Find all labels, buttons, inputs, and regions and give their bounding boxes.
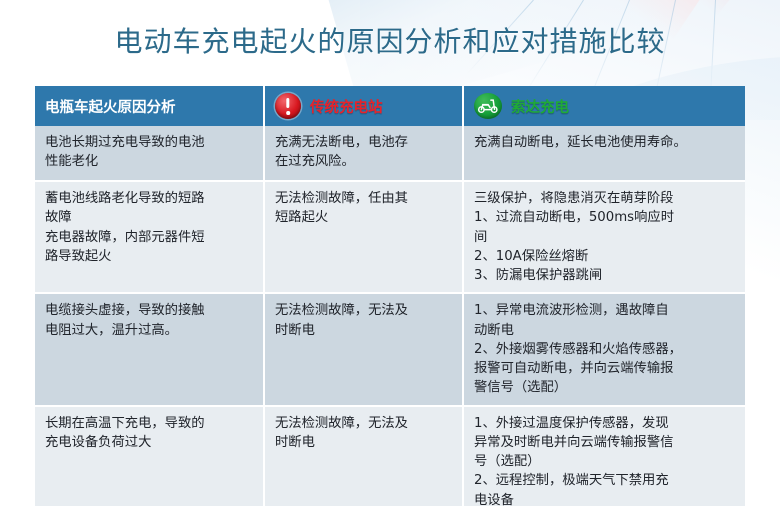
cell-cause: 长期在高温下充电，导致的 充电设备负荷过大 xyxy=(35,406,264,506)
cell-text-line: 在过充风险。 xyxy=(275,152,453,171)
cell-text-line: 动断电 xyxy=(474,321,736,340)
table-body: 电池长期过充电导致的电池 性能老化 充满无法断电，电池存 在过充风险。 充满自动… xyxy=(35,126,745,506)
cell-traditional: 无法检测故障，无法及 时断电 xyxy=(264,293,463,405)
cell-text-line: 蓄电池线路老化导致的短路 xyxy=(45,189,254,208)
table-row: 电池长期过充电导致的电池 性能老化 充满无法断电，电池存 在过充风险。 充满自动… xyxy=(35,126,745,181)
column-header-suoda: 索达充电 xyxy=(463,86,745,126)
table-row: 电缆接头虚接，导致的接触 电阻过大，温升过高。 无法检测故障，无法及 时断电 1… xyxy=(35,293,745,405)
slide-title: 电动车充电起火的原因分析和应对措施比较 xyxy=(0,24,780,59)
cell-text-line: 短路起火 xyxy=(275,208,453,227)
comparison-table-wrapper: 电瓶车起火原因分析 传统充电站 xyxy=(35,86,745,506)
cell-text-line: 1、异常电流波形检测，遇故障自 xyxy=(474,301,736,320)
cell-text-line: 电设备 xyxy=(474,491,736,506)
cell-text-line: 无法检测故障，无法及 xyxy=(275,301,453,320)
cell-text-line: 充电设备负荷过大 xyxy=(45,433,254,452)
cell-text-line: 长期在高温下充电，导致的 xyxy=(45,414,254,433)
table-row: 蓄电池线路老化导致的短路 故障 充电器故障，内部元器件短 路导致起火 无法检测故… xyxy=(35,181,745,293)
comparison-table: 电瓶车起火原因分析 传统充电站 xyxy=(35,86,745,506)
cell-suoda: 1、异常电流波形检测，遇故障自 动断电 2、外接烟雾传感器和火焰传感器， 报警可… xyxy=(463,293,745,405)
cell-text-line: 间 xyxy=(474,228,736,247)
cell-text-line: 异常及时断电并向云端传输报警信 xyxy=(474,433,736,452)
scooter-icon xyxy=(474,93,502,119)
cell-text-line: 报警可自动断电，并向云端传输报 xyxy=(474,359,736,378)
cell-text-line: 2、10A保险丝熔断 xyxy=(474,247,736,266)
cell-text-line: 电池长期过充电导致的电池 xyxy=(45,133,254,152)
cell-text-line: 警信号（选配） xyxy=(474,378,736,397)
table-row: 长期在高温下充电，导致的 充电设备负荷过大 无法检测故障，无法及 时断电 1、外… xyxy=(35,406,745,506)
cell-text-line: 2、外接烟雾传感器和火焰传感器， xyxy=(474,340,736,359)
cell-suoda: 1、外接过温度保护传感器，发现 异常及时断电并向云端传输报警信 号（选配） 2、… xyxy=(463,406,745,506)
cell-text-line: 3、防漏电保护器跳闸 xyxy=(474,266,736,285)
cell-text-line: 三级保护，将隐患消灭在萌芽阶段 xyxy=(474,189,736,208)
cell-traditional: 无法检测故障，无法及 时断电 xyxy=(264,406,463,506)
cell-text-line: 无法检测故障，无法及 xyxy=(275,414,453,433)
cell-traditional: 充满无法断电，电池存 在过充风险。 xyxy=(264,126,463,181)
table-header-row: 电瓶车起火原因分析 传统充电站 xyxy=(35,86,745,126)
cell-text-line: 2、远程控制，极端天气下禁用充 xyxy=(474,471,736,490)
cell-suoda: 三级保护，将隐患消灭在萌芽阶段 1、过流自动断电，500ms响应时 间 2、10… xyxy=(463,181,745,293)
cell-text-line: 时断电 xyxy=(275,321,453,340)
column-header-cause-label: 电瓶车起火原因分析 xyxy=(45,96,176,117)
cell-cause: 电缆接头虚接，导致的接触 电阻过大，温升过高。 xyxy=(35,293,264,405)
warning-icon xyxy=(275,93,301,119)
slide-canvas: 电动车充电起火的原因分析和应对措施比较 电瓶车起火原因分析 传 xyxy=(0,0,780,506)
column-header-cause: 电瓶车起火原因分析 xyxy=(35,86,264,126)
column-header-suoda-label: 索达充电 xyxy=(511,96,569,117)
cell-text-line: 号（选配） xyxy=(474,452,736,471)
cell-suoda: 充满自动断电，延长电池使用寿命。 xyxy=(463,126,745,181)
cell-traditional: 无法检测故障，任由其 短路起火 xyxy=(264,181,463,293)
table-head: 电瓶车起火原因分析 传统充电站 xyxy=(35,86,745,126)
cell-cause: 电池长期过充电导致的电池 性能老化 xyxy=(35,126,264,181)
cell-text-line: 路导致起火 xyxy=(45,247,254,266)
cell-text-line: 电缆接头虚接，导致的接触 xyxy=(45,301,254,320)
column-header-traditional: 传统充电站 xyxy=(264,86,463,126)
cell-text-line: 充满自动断电，延长电池使用寿命。 xyxy=(474,133,736,152)
cell-cause: 蓄电池线路老化导致的短路 故障 充电器故障，内部元器件短 路导致起火 xyxy=(35,181,264,293)
cell-text-line: 充电器故障，内部元器件短 xyxy=(45,228,254,247)
column-header-traditional-label: 传统充电站 xyxy=(310,96,383,117)
cell-text-line: 充满无法断电，电池存 xyxy=(275,133,453,152)
cell-text-line: 故障 xyxy=(45,208,254,227)
cell-text-line: 电阻过大，温升过高。 xyxy=(45,321,254,340)
cell-text-line: 性能老化 xyxy=(45,152,254,171)
cell-text-line: 1、外接过温度保护传感器，发现 xyxy=(474,414,736,433)
cell-text-line: 时断电 xyxy=(275,433,453,452)
cell-text-line: 1、过流自动断电，500ms响应时 xyxy=(474,208,736,227)
cell-text-line: 无法检测故障，任由其 xyxy=(275,189,453,208)
